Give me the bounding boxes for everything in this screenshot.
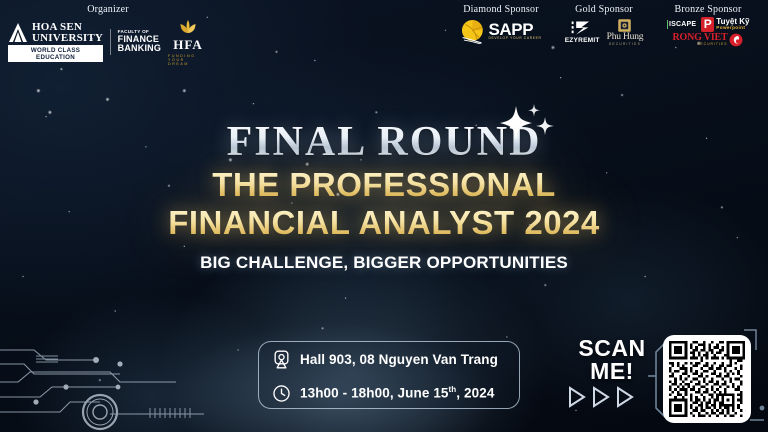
bronze-sponsor-group: Bronze Sponsor ISCAPE P Tuyệt Kỹ Powerpo… <box>650 4 766 47</box>
phu-hung-sub: SECURITIES <box>609 42 641 46</box>
time-text: 13h00 - 18h00, June 15th, 2024 <box>300 385 494 401</box>
bronze-caption: Bronze Sponsor <box>650 4 766 15</box>
phu-hung-name: Phu Hung <box>607 32 644 42</box>
chevron-right-icon <box>590 386 612 408</box>
event-info-box: Hall 903, 08 Nguyen Van Trang 13h00 - 18… <box>258 341 520 409</box>
sapp-name: SAPP <box>488 22 541 37</box>
venue-row: Hall 903, 08 Nguyen Van Trang <box>259 342 519 376</box>
diamond-caption: Diamond Sponsor <box>447 4 555 15</box>
chevron-right-icon <box>614 386 636 408</box>
ezyremit-mark-icon <box>571 20 593 36</box>
sapp-sphere-icon <box>460 18 486 44</box>
organizer-group: Organizer HOA SEN UNIVERSITY <box>8 4 208 66</box>
qr-code[interactable] <box>663 335 751 423</box>
time-prefix: 13h00 - 18h00, June 15 <box>300 386 449 401</box>
iscape-bar-icon <box>667 20 669 29</box>
hoa-sen-mountain-icon <box>8 22 28 43</box>
chevron-right-icon <box>566 386 588 408</box>
arrow-chevrons <box>566 386 636 408</box>
hsu-name-line2: UNIVERSITY <box>32 33 103 43</box>
clock-icon <box>272 384 291 403</box>
gold-sponsor-group: Gold Sponsor EZYREMIT <box>556 4 652 46</box>
rong-viet-sub: SECURITIES <box>673 43 728 46</box>
scan-me-line1: SCAN <box>562 337 662 360</box>
circuit-decoration <box>0 342 210 432</box>
phu-hung-emblem-icon <box>617 18 632 33</box>
time-row: 13h00 - 18h00, June 15th, 2024 <box>259 376 519 410</box>
hfa-leaf-icon <box>176 18 200 38</box>
faculty-line3: BANKING <box>118 44 161 53</box>
event-poster: Organizer HOA SEN UNIVERSITY <box>0 0 768 432</box>
rong-viet-dragon-icon <box>729 33 743 47</box>
time-suffix: , 2024 <box>456 386 494 401</box>
diamond-sponsor-group: Diamond Sponsor SAPP DEVELOP YOUR CA <box>447 4 555 44</box>
sponsor-header: Organizer HOA SEN UNIVERSITY <box>0 0 768 72</box>
sapp-tagline: DEVELOP YOUR CAREER <box>488 37 541 40</box>
tuyet-ky-sub: Powerpoint <box>716 26 749 31</box>
scan-me-label: SCAN ME! <box>562 337 662 382</box>
hoa-sen-university-logo: HOA SEN UNIVERSITY WORLD CLASS EDUCATION <box>8 22 103 62</box>
organizer-caption: Organizer <box>8 4 208 15</box>
tuyet-ky-logo: P Tuyệt Kỹ Powerpoint <box>701 17 749 32</box>
venue-text: Hall 903, 08 Nguyen Van Trang <box>300 352 498 367</box>
title-line-2: FINANCIAL ANALYST 2024 <box>0 204 768 242</box>
eyebrow-final-round: FINAL ROUND <box>0 118 768 166</box>
hsu-tagline: WORLD CLASS EDUCATION <box>8 45 103 62</box>
iscape-name: ISCAPE <box>669 21 696 28</box>
qr-code-image <box>669 341 745 417</box>
logo-divider <box>110 29 111 55</box>
scan-me-line2: ME! <box>562 360 662 383</box>
gold-caption: Gold Sponsor <box>556 4 652 15</box>
iscape-logo: ISCAPE <box>667 20 697 29</box>
hfa-tagline: FUNDING YOUR DREAM <box>168 54 208 66</box>
title-line-1: THE PROFESSIONAL <box>0 166 768 204</box>
tuyet-ky-p-icon: P <box>701 17 714 32</box>
ezyremit-logo: EZYREMIT <box>565 20 600 44</box>
location-pin-icon <box>272 350 291 369</box>
phu-hung-logo: Phu Hung SECURITIES <box>607 18 644 46</box>
rong-viet-logo: RONG VIET SECURITIES <box>673 33 744 47</box>
hfa-name: HFA <box>173 37 202 53</box>
faculty-finance-banking-logo: FACULTY OF FINANCE BANKING <box>118 30 161 53</box>
hfa-club-logo: HFA FUNDING YOUR DREAM <box>168 18 208 66</box>
subtitle: BIG CHALLENGE, BIGGER OPPORTUNITIES <box>0 253 768 273</box>
sapp-logo: SAPP DEVELOP YOUR CAREER <box>460 18 541 44</box>
ezyremit-name: EZYREMIT <box>565 37 600 44</box>
